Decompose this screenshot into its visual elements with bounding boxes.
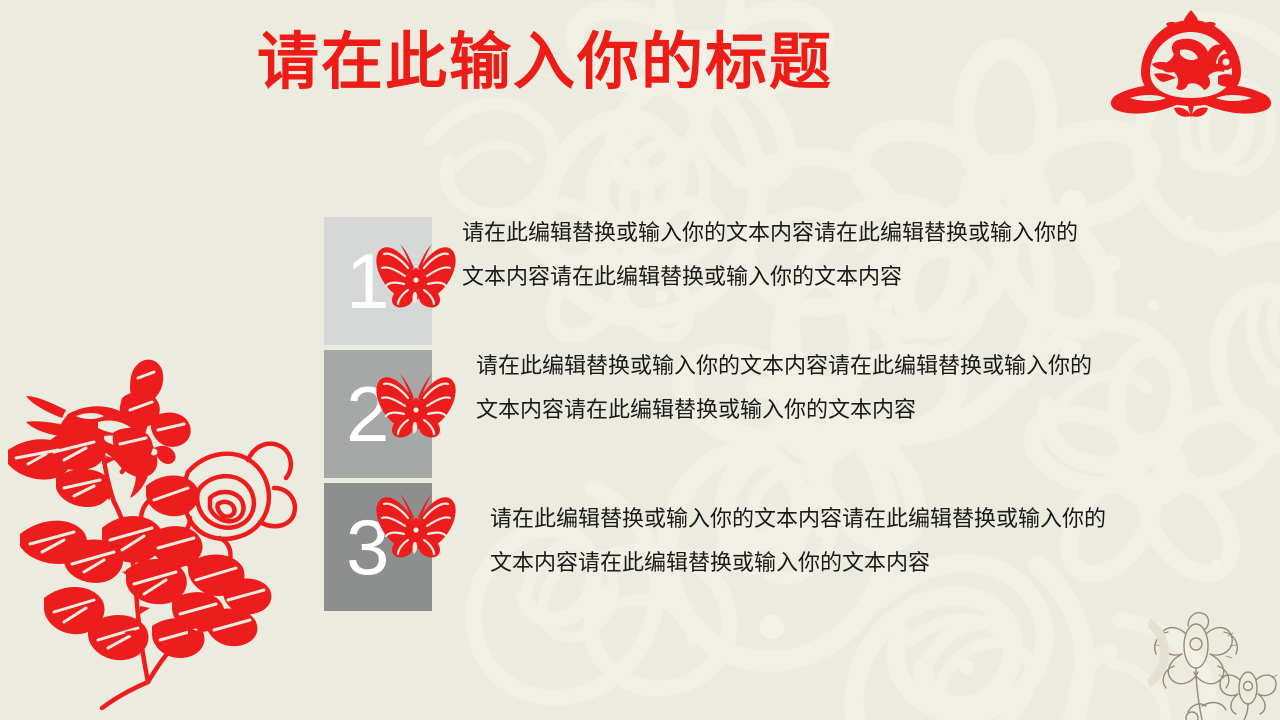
number-label: 1 <box>346 242 389 320</box>
numbered-list: 1 <box>0 0 1280 720</box>
item-text: 请在此编辑替换或输入你的文本内容请在此编辑替换或输入你的文本内容请在此编辑替换或… <box>462 212 1096 300</box>
slide-canvas: 请在此输入你的标题 <box>0 0 1280 720</box>
item-text: 请在此编辑替换或输入你的文本内容请在此编辑替换或输入你的文本内容请在此编辑替换或… <box>476 345 1110 433</box>
item-text: 请在此编辑替换或输入你的文本内容请在此编辑替换或输入你的文本内容请在此编辑替换或… <box>490 498 1124 586</box>
number-label: 2 <box>346 375 389 453</box>
number-badge-2[interactable]: 2 <box>324 350 432 478</box>
number-badge-3[interactable]: 3 <box>324 483 432 611</box>
number-label: 3 <box>346 508 389 586</box>
number-badge-1[interactable]: 1 <box>324 217 432 345</box>
